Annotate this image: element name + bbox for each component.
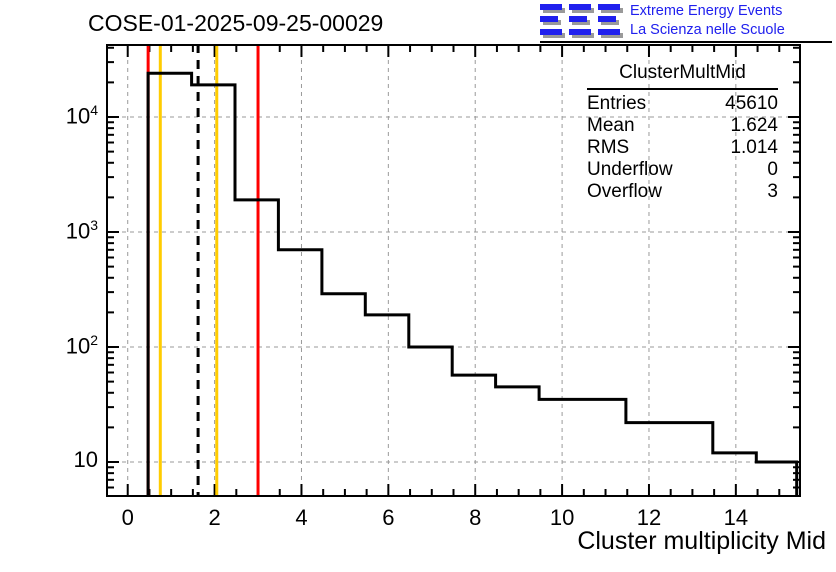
letter-e-icon-3 [598,4,620,36]
x-axis-tick-label: 2 [185,505,245,531]
stats-divider [587,88,778,90]
logo-line-1: Extreme Energy Events [630,2,782,20]
x-axis-tick-label: 8 [445,505,505,531]
stats-value: 0 [767,159,778,181]
x-axis-tick-label: 6 [358,505,418,531]
eee-logo: Extreme Energy Events La Scienza nelle S… [540,2,832,40]
stats-box: ClusterMultMid Entries45610Mean1.624RMS1… [573,62,792,202]
stats-title: ClusterMultMid [573,62,792,84]
stats-value: 1.014 [730,137,778,159]
y-axis-tick-label: 10 [20,447,98,473]
x-axis-tick-label: 0 [98,505,158,531]
stats-key: Entries [587,93,646,115]
y-axis-tick-label: 103 [20,217,98,244]
stats-row: Entries45610 [587,93,778,116]
y-axis-tick-label: 102 [20,332,98,359]
stats-value: 3 [767,181,778,203]
stats-key: Mean [587,115,635,137]
letter-e-icon-1 [540,4,562,36]
stats-value: 1.624 [730,115,778,137]
y-axis-tick-label: 104 [20,102,98,129]
stats-row: RMS1.014 [587,137,778,160]
letter-e-icon-2 [569,4,591,36]
root-canvas: COSE-01-2025-09-25-00029 Extreme Energy … [0,0,836,572]
logo-underline [540,41,832,43]
stats-row: Overflow3 [587,181,778,204]
stats-key: Overflow [587,181,662,203]
x-axis-title: Cluster multiplicity Mid [577,527,826,556]
stats-value: 45610 [725,93,778,115]
stats-row: Mean1.624 [587,115,778,138]
page-title: COSE-01-2025-09-25-00029 [88,10,383,37]
stats-row: Underflow0 [587,159,778,182]
stats-key: Underflow [587,159,673,181]
stats-key: RMS [587,137,629,159]
x-axis-tick-label: 4 [271,505,331,531]
logo-line-2: La Scienza nelle Scuole [630,21,785,39]
eee-mark-icon [540,4,622,38]
